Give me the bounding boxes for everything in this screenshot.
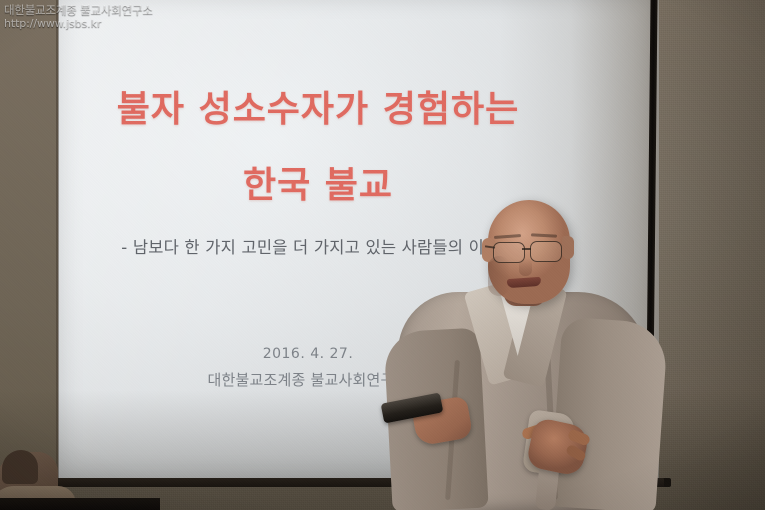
watermark-url: http://www.jsbs.kr — [4, 17, 234, 31]
watermark-organization: 대한불교조계종 불교사회연구소 — [4, 3, 234, 17]
robe-right-sleeve — [550, 317, 669, 510]
watermark: 대한불교조계종 불교사회연구소 http://www.jsbs.kr — [4, 3, 234, 31]
glasses-lens-right — [530, 241, 562, 262]
slide-title-line1: 불자 성소수자가 경험하는 — [58, 80, 578, 132]
speaker-nose — [519, 258, 532, 276]
glasses-bridge — [522, 248, 531, 250]
speaker-ear-right — [562, 236, 574, 259]
front-table-edge — [0, 498, 160, 510]
speaker-monk — [380, 200, 700, 510]
lecture-photo-scene: 불자 성소수자가 경험하는 한국 불교 - 남보다 한 가지 고민을 더 가지고… — [0, 0, 765, 510]
audience-member-hair — [2, 450, 38, 484]
